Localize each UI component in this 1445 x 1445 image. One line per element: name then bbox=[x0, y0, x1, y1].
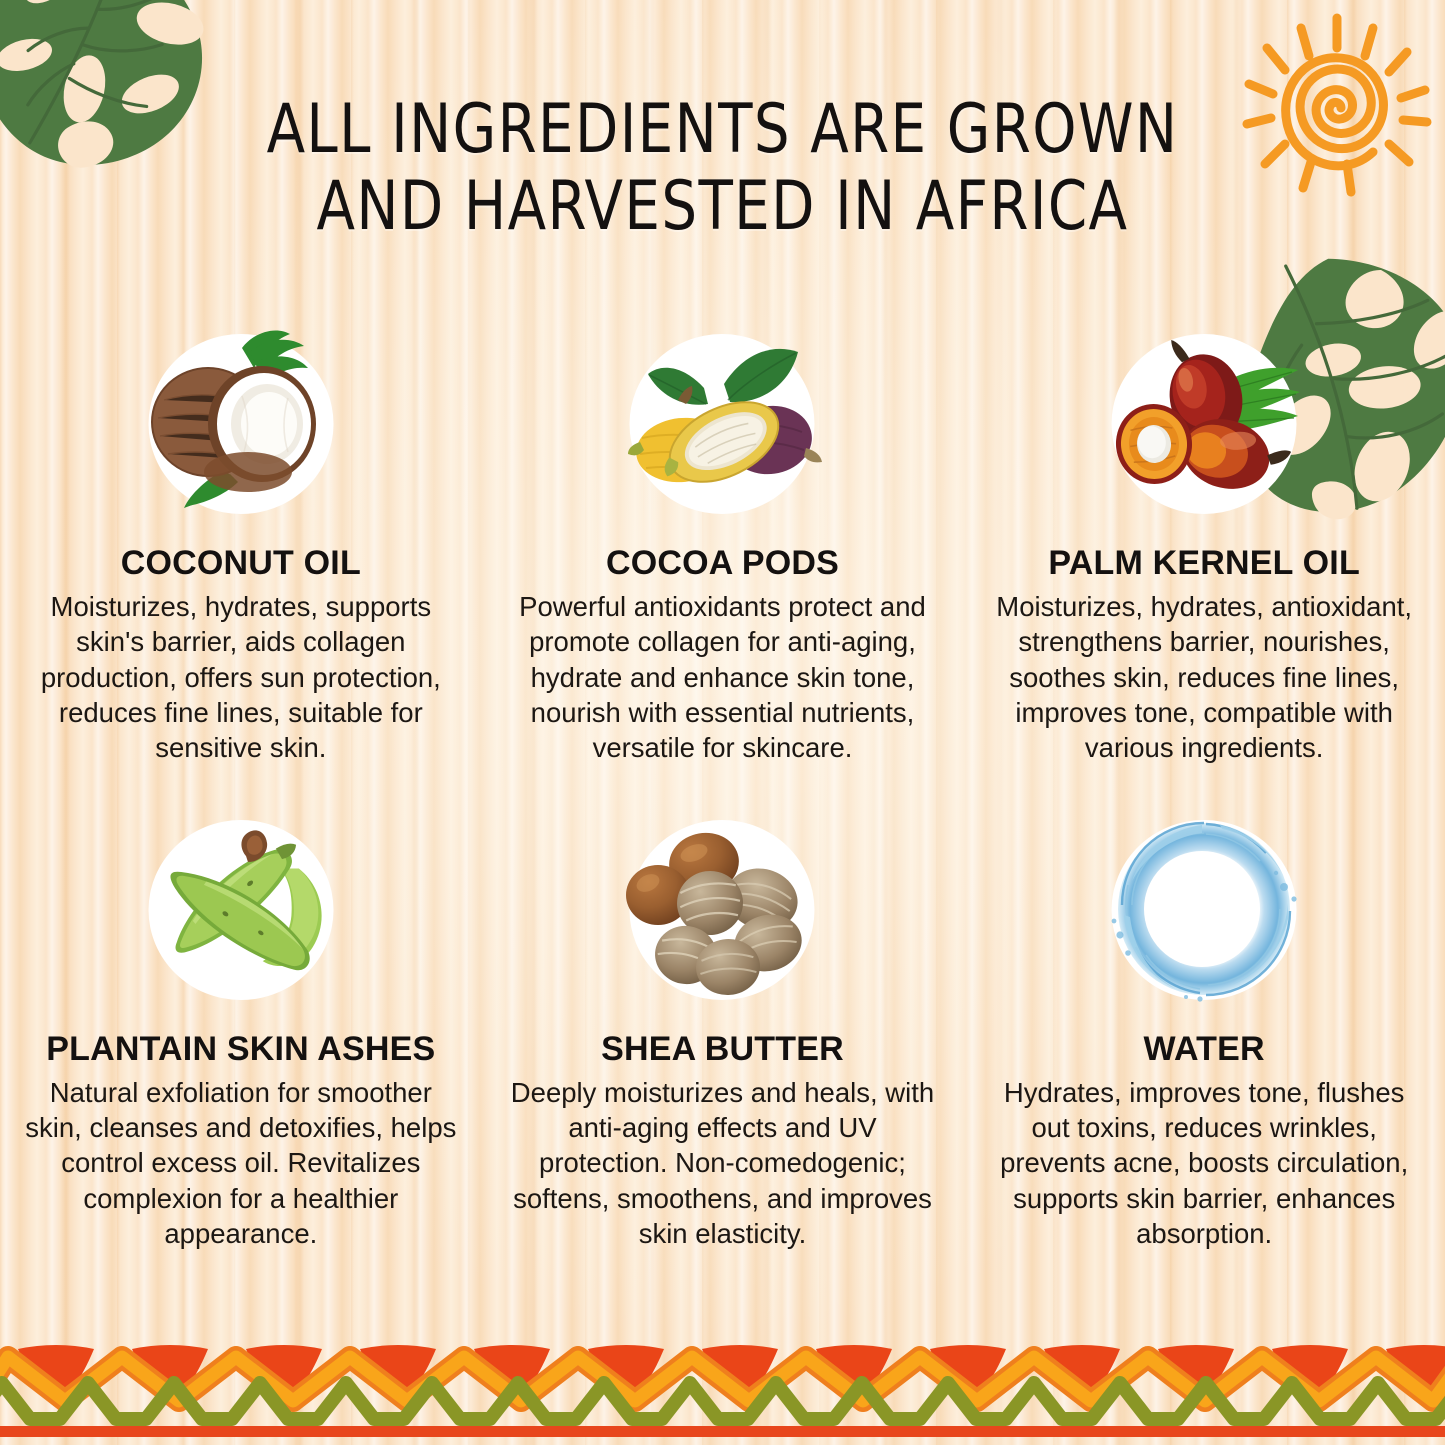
border-bottom-bar bbox=[0, 1426, 1445, 1437]
plantain-thumb-wrap bbox=[14, 804, 468, 1016]
ingredient-card-coconut-oil: COCONUT OIL Moisturizes, hydrates, suppo… bbox=[0, 318, 482, 766]
palm-fruit-photo-icon bbox=[1102, 322, 1307, 527]
coconut-photo-icon bbox=[138, 322, 343, 527]
ingredient-description: Hydrates, improves tone, flushes out tox… bbox=[977, 1075, 1431, 1252]
ingredient-description: Deeply moisturizes and heals, with anti-… bbox=[496, 1075, 950, 1252]
water-thumb-wrap bbox=[977, 804, 1431, 1016]
water-splash-photo-icon bbox=[1102, 807, 1307, 1012]
ingredient-name: SHEA BUTTER bbox=[496, 1030, 950, 1069]
ingredient-description: Powerful antioxidants protect and promot… bbox=[496, 589, 950, 766]
ingredients-infographic: ALL INGREDIENTS ARE GROWN AND HARVESTED … bbox=[0, 0, 1445, 1445]
ingredient-card-water: WATER Hydrates, improves tone, flushes o… bbox=[963, 766, 1445, 1252]
ingredient-card-palm-kernel-oil: PALM KERNEL OIL Moisturizes, hydrates, a… bbox=[963, 318, 1445, 766]
title-line-2: AND HARVESTED IN AFRICA bbox=[58, 169, 1387, 246]
palm-thumb-wrap bbox=[977, 318, 1431, 530]
ingredient-description: Moisturizes, hydrates, supports skin's b… bbox=[14, 589, 468, 766]
coconut-thumb-wrap bbox=[14, 318, 468, 530]
ingredient-card-cocoa-pods: COCOA PODS Powerful antioxidants protect… bbox=[482, 318, 964, 766]
shea-nuts-photo-icon bbox=[620, 807, 825, 1012]
tribal-border-pattern bbox=[0, 1335, 1445, 1445]
ingredient-name: WATER bbox=[977, 1030, 1431, 1069]
title-line-1: ALL INGREDIENTS ARE GROWN bbox=[58, 92, 1387, 169]
cocoa-thumb-wrap bbox=[496, 318, 950, 530]
ingredient-grid: COCONUT OIL Moisturizes, hydrates, suppo… bbox=[0, 318, 1445, 1251]
ingredient-description: Natural exfoliation for smoother skin, c… bbox=[14, 1075, 468, 1252]
ingredient-name: PALM KERNEL OIL bbox=[977, 544, 1431, 583]
cocoa-pods-photo-icon bbox=[620, 322, 825, 527]
page-title: ALL INGREDIENTS ARE GROWN AND HARVESTED … bbox=[58, 92, 1387, 246]
ingredient-name: PLANTAIN SKIN ASHES bbox=[14, 1030, 468, 1069]
ingredient-description: Moisturizes, hydrates, antioxidant, stre… bbox=[977, 589, 1431, 766]
plantain-photo-icon bbox=[138, 807, 343, 1012]
ingredient-name: COCONUT OIL bbox=[14, 544, 468, 583]
ingredient-card-plantain-skin-ashes: PLANTAIN SKIN ASHES Natural exfoliation … bbox=[0, 766, 482, 1252]
ingredient-name: COCOA PODS bbox=[496, 544, 950, 583]
shea-thumb-wrap bbox=[496, 804, 950, 1016]
ingredient-card-shea-butter: SHEA BUTTER Deeply moisturizes and heals… bbox=[482, 766, 964, 1252]
